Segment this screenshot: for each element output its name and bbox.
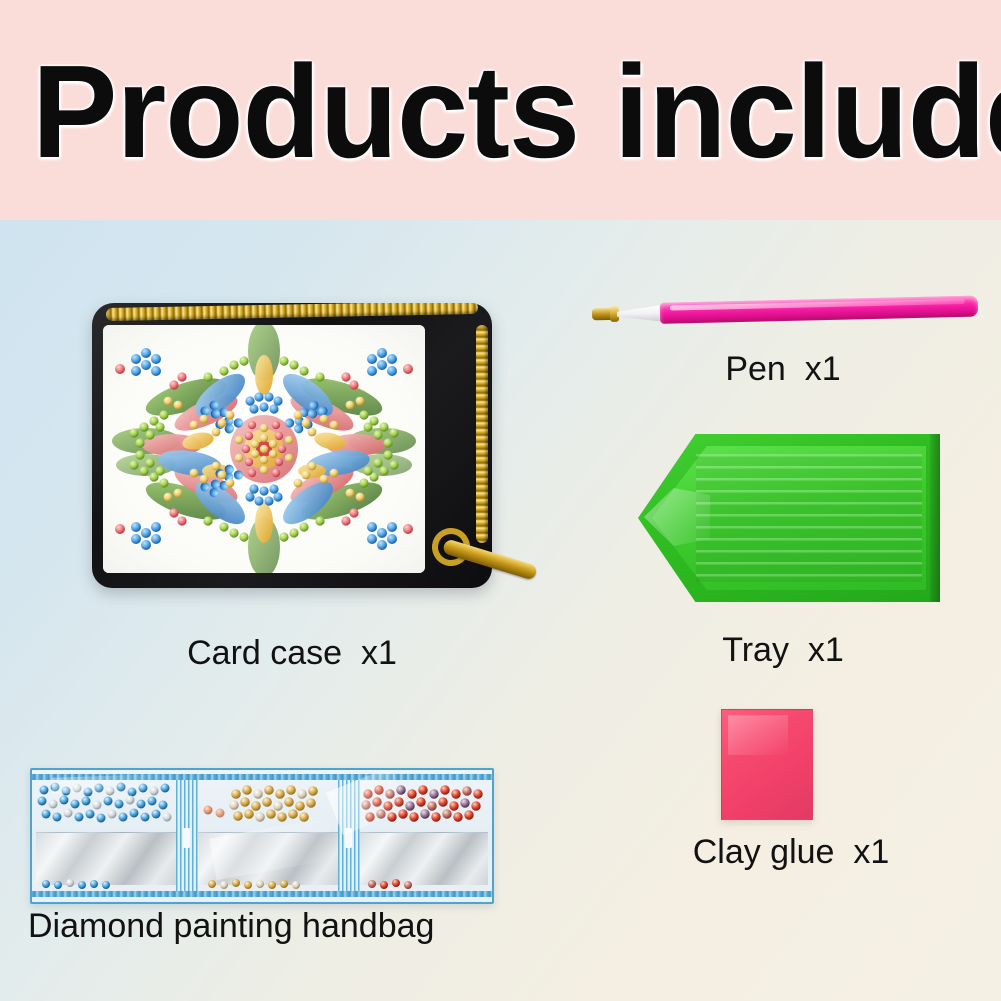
card-case-label: Card case x1 [92, 634, 492, 673]
handbag-divider-2 [338, 780, 360, 892]
mandala-artwork-icon [103, 325, 425, 573]
card-case-image [92, 303, 492, 588]
gold-rhinestones-bottom-icon [198, 878, 338, 890]
card-case-zipper-top [106, 303, 478, 321]
tray-label: Tray x1 [648, 631, 918, 670]
product-include-infographic: Products include [0, 0, 1001, 1001]
handbag-bottom-seal [32, 891, 492, 897]
tray-grooves [696, 454, 922, 582]
tray-image [638, 434, 940, 602]
tray-right-rim [930, 434, 940, 602]
handbag-label: Diamond painting handbag [28, 907, 498, 946]
page-title: Products include [32, 48, 954, 178]
handbag-divider-1 [176, 780, 198, 892]
blue-rhinestones-bottom-icon [36, 878, 176, 890]
header-band: Products include [0, 0, 1001, 220]
clay-glue-highlight [728, 715, 788, 755]
handbag-compartment-gold [198, 780, 338, 892]
handbag-compartment-blue [36, 780, 176, 892]
gold-rhinestones-icon [198, 780, 338, 828]
card-case-zipper-right [476, 325, 488, 543]
card-case-art-panel [103, 325, 425, 573]
pen-label: Pen x1 [648, 350, 918, 389]
diamond-painting-handbag-image [30, 768, 494, 904]
blue-rhinestones-icon [36, 780, 176, 828]
handbag-compartment-red [360, 780, 488, 892]
clay-glue-label: Clay glue x1 [646, 833, 936, 872]
red-rhinestones-bottom-icon [360, 878, 488, 890]
pen-white-taper [617, 305, 663, 323]
clay-glue-image [721, 709, 813, 820]
red-rhinestones-icon [360, 780, 488, 828]
